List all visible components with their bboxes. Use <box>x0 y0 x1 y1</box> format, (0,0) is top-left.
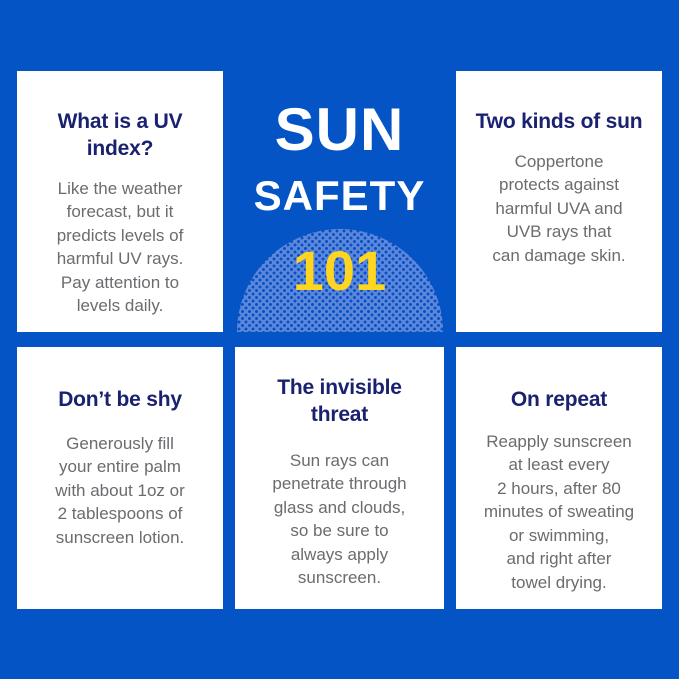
card-title: On repeat <box>509 387 609 414</box>
card-invisible-threat: The invisible threat Sun rays can penetr… <box>235 347 444 609</box>
brand-line-sun: SUN <box>275 100 405 160</box>
card-body: Reapply sunscreen at least every 2 hours… <box>482 430 636 594</box>
card-title: Don’t be shy <box>56 387 184 414</box>
card-title: Two kinds of sun <box>474 109 645 136</box>
card-title: What is a UV index? <box>29 109 211 163</box>
card-on-repeat: On repeat Reapply sunscreen at least eve… <box>456 347 662 609</box>
card-body: Generously fill your entire palm with ab… <box>53 432 186 549</box>
card-body: Sun rays can penetrate through glass and… <box>270 449 408 590</box>
brand-line-101: 101 <box>293 243 386 299</box>
card-grid: What is a UV index? Like the weather for… <box>17 71 662 609</box>
card-uv-index: What is a UV index? Like the weather for… <box>17 71 223 332</box>
brand-line-safety: SAFETY <box>254 175 426 217</box>
card-body: Like the weather forecast, but it predic… <box>55 177 186 318</box>
card-body: Coppertone protects against harmful UVA … <box>490 150 627 267</box>
sun-safety-infographic: What is a UV index? Like the weather for… <box>0 0 679 679</box>
logo-block: SUN SAFETY 101 <box>235 71 444 332</box>
card-dont-be-shy: Don’t be shy Generously fill your entire… <box>17 347 223 609</box>
card-title: The invisible threat <box>247 375 432 429</box>
card-two-kinds-of-sun: Two kinds of sun Coppertone protects aga… <box>456 71 662 332</box>
